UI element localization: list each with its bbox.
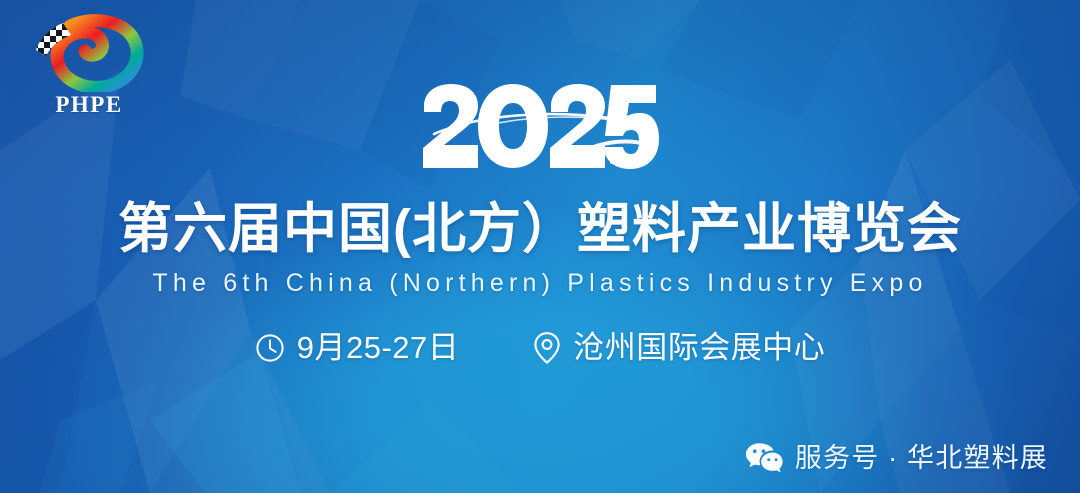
- wechat-label: 服务号 · 华北塑料展: [795, 441, 1048, 475]
- page-title-en: The 6th China (Northern) Plastics Indust…: [0, 268, 1080, 298]
- event-date: 9月25-27日: [255, 329, 460, 367]
- event-location: 沧州国际会展中心: [533, 329, 825, 367]
- event-location-text: 沧州国际会展中心: [573, 329, 825, 367]
- event-date-text: 9月25-27日: [297, 329, 460, 367]
- wechat-account: 服务号 · 华北塑料展: [745, 441, 1048, 475]
- phpe-swirl-logo-icon: [30, 12, 148, 92]
- logo-block: PHPE: [24, 12, 154, 116]
- clock-icon: [255, 333, 285, 363]
- wechat-icon: [745, 442, 783, 475]
- page-title-cn: 第六届中国(北方）塑料产业博览会: [0, 198, 1080, 260]
- map-pin-icon: [533, 331, 561, 365]
- logo-wordmark: PHPE: [24, 92, 154, 118]
- event-meta-row: 9月25-27日 沧州国际会展中心: [0, 329, 1080, 367]
- expo-banner: PHPE 第六届中国(北方）塑料产业博览会 The 6th China: [0, 0, 1080, 493]
